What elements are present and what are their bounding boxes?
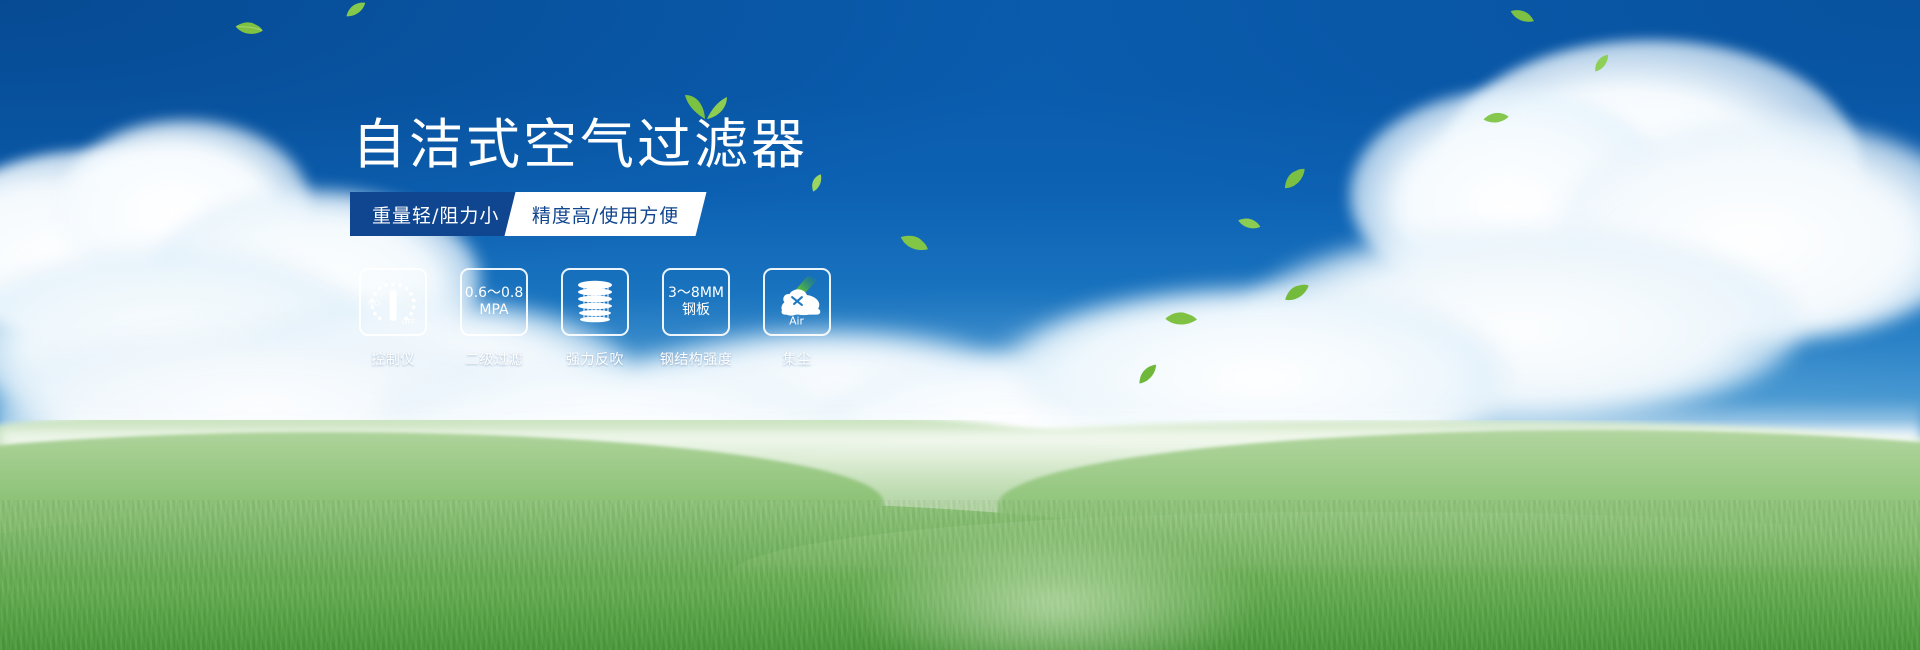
tag-lightweight: 重量轻/阻力小 — [350, 192, 521, 236]
air-cloud-icon: Air — [763, 268, 831, 336]
feature-caption: 强力反吹 — [566, 349, 624, 369]
feature-caption: 集尘 — [783, 349, 812, 369]
page-title: 自洁式空气过滤器 — [352, 118, 808, 172]
dial-label-off: OFF — [402, 318, 416, 326]
feature-item-blowback: 强力反吹 — [560, 268, 630, 369]
feature-item-dust: Air 集尘 — [762, 268, 832, 369]
feature-caption: 控制仪 — [371, 349, 415, 369]
feature-caption: 钢结构强度 — [660, 349, 733, 369]
dial-label-no: NO — [368, 299, 380, 308]
feature-list: NO OFF 控制仪 0.6～0.8 MPA 二级过滤 — [358, 268, 832, 369]
pressure-text: 0.6～0.8 MPA — [465, 285, 524, 319]
steel-text: 3～8MM 钢板 — [668, 285, 724, 319]
tag-precision: 精度高/使用方便 — [505, 192, 707, 236]
feature-caption: 二级过滤 — [465, 349, 523, 369]
title-sprig-icon — [684, 92, 728, 120]
control-dial-icon: NO OFF — [359, 268, 427, 336]
pressure-text-icon: 0.6～0.8 MPA — [460, 268, 528, 336]
steel-line-2: 钢板 — [668, 302, 724, 319]
hero-banner: 自洁式空气过滤器 重量轻/阻力小 精度高/使用方便 — [0, 0, 1920, 650]
banner-content: 自洁式空气过滤器 重量轻/阻力小 精度高/使用方便 — [0, 0, 1920, 650]
feature-item-steel: 3～8MM 钢板 钢结构强度 — [661, 268, 731, 369]
pressure-line-2: MPA — [465, 302, 524, 319]
feature-item-control: NO OFF 控制仪 — [358, 268, 428, 369]
steel-line-1: 3～8MM — [668, 285, 724, 302]
steel-plate-text-icon: 3～8MM 钢板 — [662, 268, 730, 336]
tag-precision-label: 精度高/使用方便 — [532, 201, 679, 228]
tag-list: 重量轻/阻力小 精度高/使用方便 — [350, 192, 702, 236]
feature-item-pressure: 0.6～0.8 MPA 二级过滤 — [459, 268, 529, 369]
filter-cartridge-icon — [561, 268, 629, 336]
air-badge-label: Air — [789, 314, 804, 327]
pressure-line-1: 0.6～0.8 — [465, 285, 524, 302]
